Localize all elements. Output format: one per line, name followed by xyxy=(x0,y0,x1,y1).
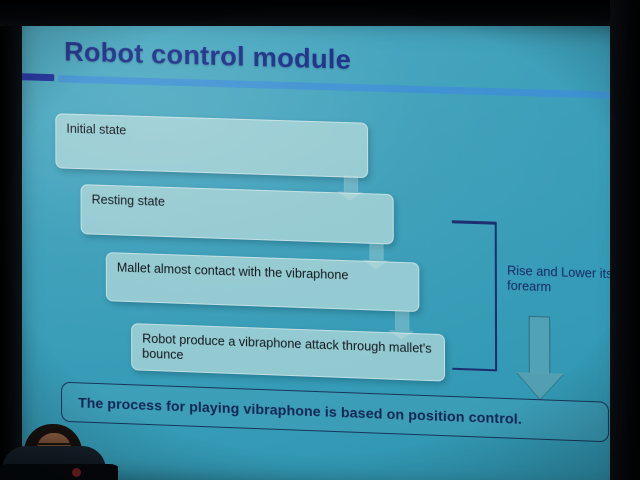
flow-box-resting-state[interactable]: Resting state xyxy=(81,184,394,244)
slide-title: Robot control module xyxy=(64,36,351,75)
flow-box-label: Mallet almost contact with the vibraphon… xyxy=(117,260,349,282)
flow-box-vibraphone-attack[interactable]: Robot produce a vibraphone attack throug… xyxy=(131,323,445,382)
room-edge-top xyxy=(0,0,640,26)
flow-box-initial-state[interactable]: Initial state xyxy=(55,113,368,178)
slide-canvas: Robot control module Initial state Resti… xyxy=(14,8,630,480)
flow-box-label: Robot produce a vibraphone attack throug… xyxy=(142,332,431,363)
presenter-shoulders xyxy=(0,464,118,480)
presenter-microphone xyxy=(72,468,81,477)
room-edge-left xyxy=(0,0,22,480)
projected-slide-photo: Robot control module Initial state Resti… xyxy=(0,0,640,480)
summary-text: The process for playing vibraphone is ba… xyxy=(78,394,522,427)
presenter-silhouette xyxy=(0,424,118,480)
title-accent-block xyxy=(18,73,54,81)
flow-box-label: Initial state xyxy=(66,122,126,138)
flow-connector-arrow-3 xyxy=(388,310,415,333)
grouping-bracket xyxy=(444,220,497,371)
flow-connector-arrow-2 xyxy=(362,243,388,263)
title-accent-rule xyxy=(58,75,626,99)
room-edge-right xyxy=(610,0,640,480)
flow-box-mallet-contact[interactable]: Mallet almost contact with the vibraphon… xyxy=(106,252,420,312)
projection-surface: Robot control module Initial state Resti… xyxy=(14,8,630,480)
flow-connector-arrow-1 xyxy=(337,175,363,194)
flow-box-label: Resting state xyxy=(92,192,165,208)
down-block-arrow-icon xyxy=(516,315,563,400)
